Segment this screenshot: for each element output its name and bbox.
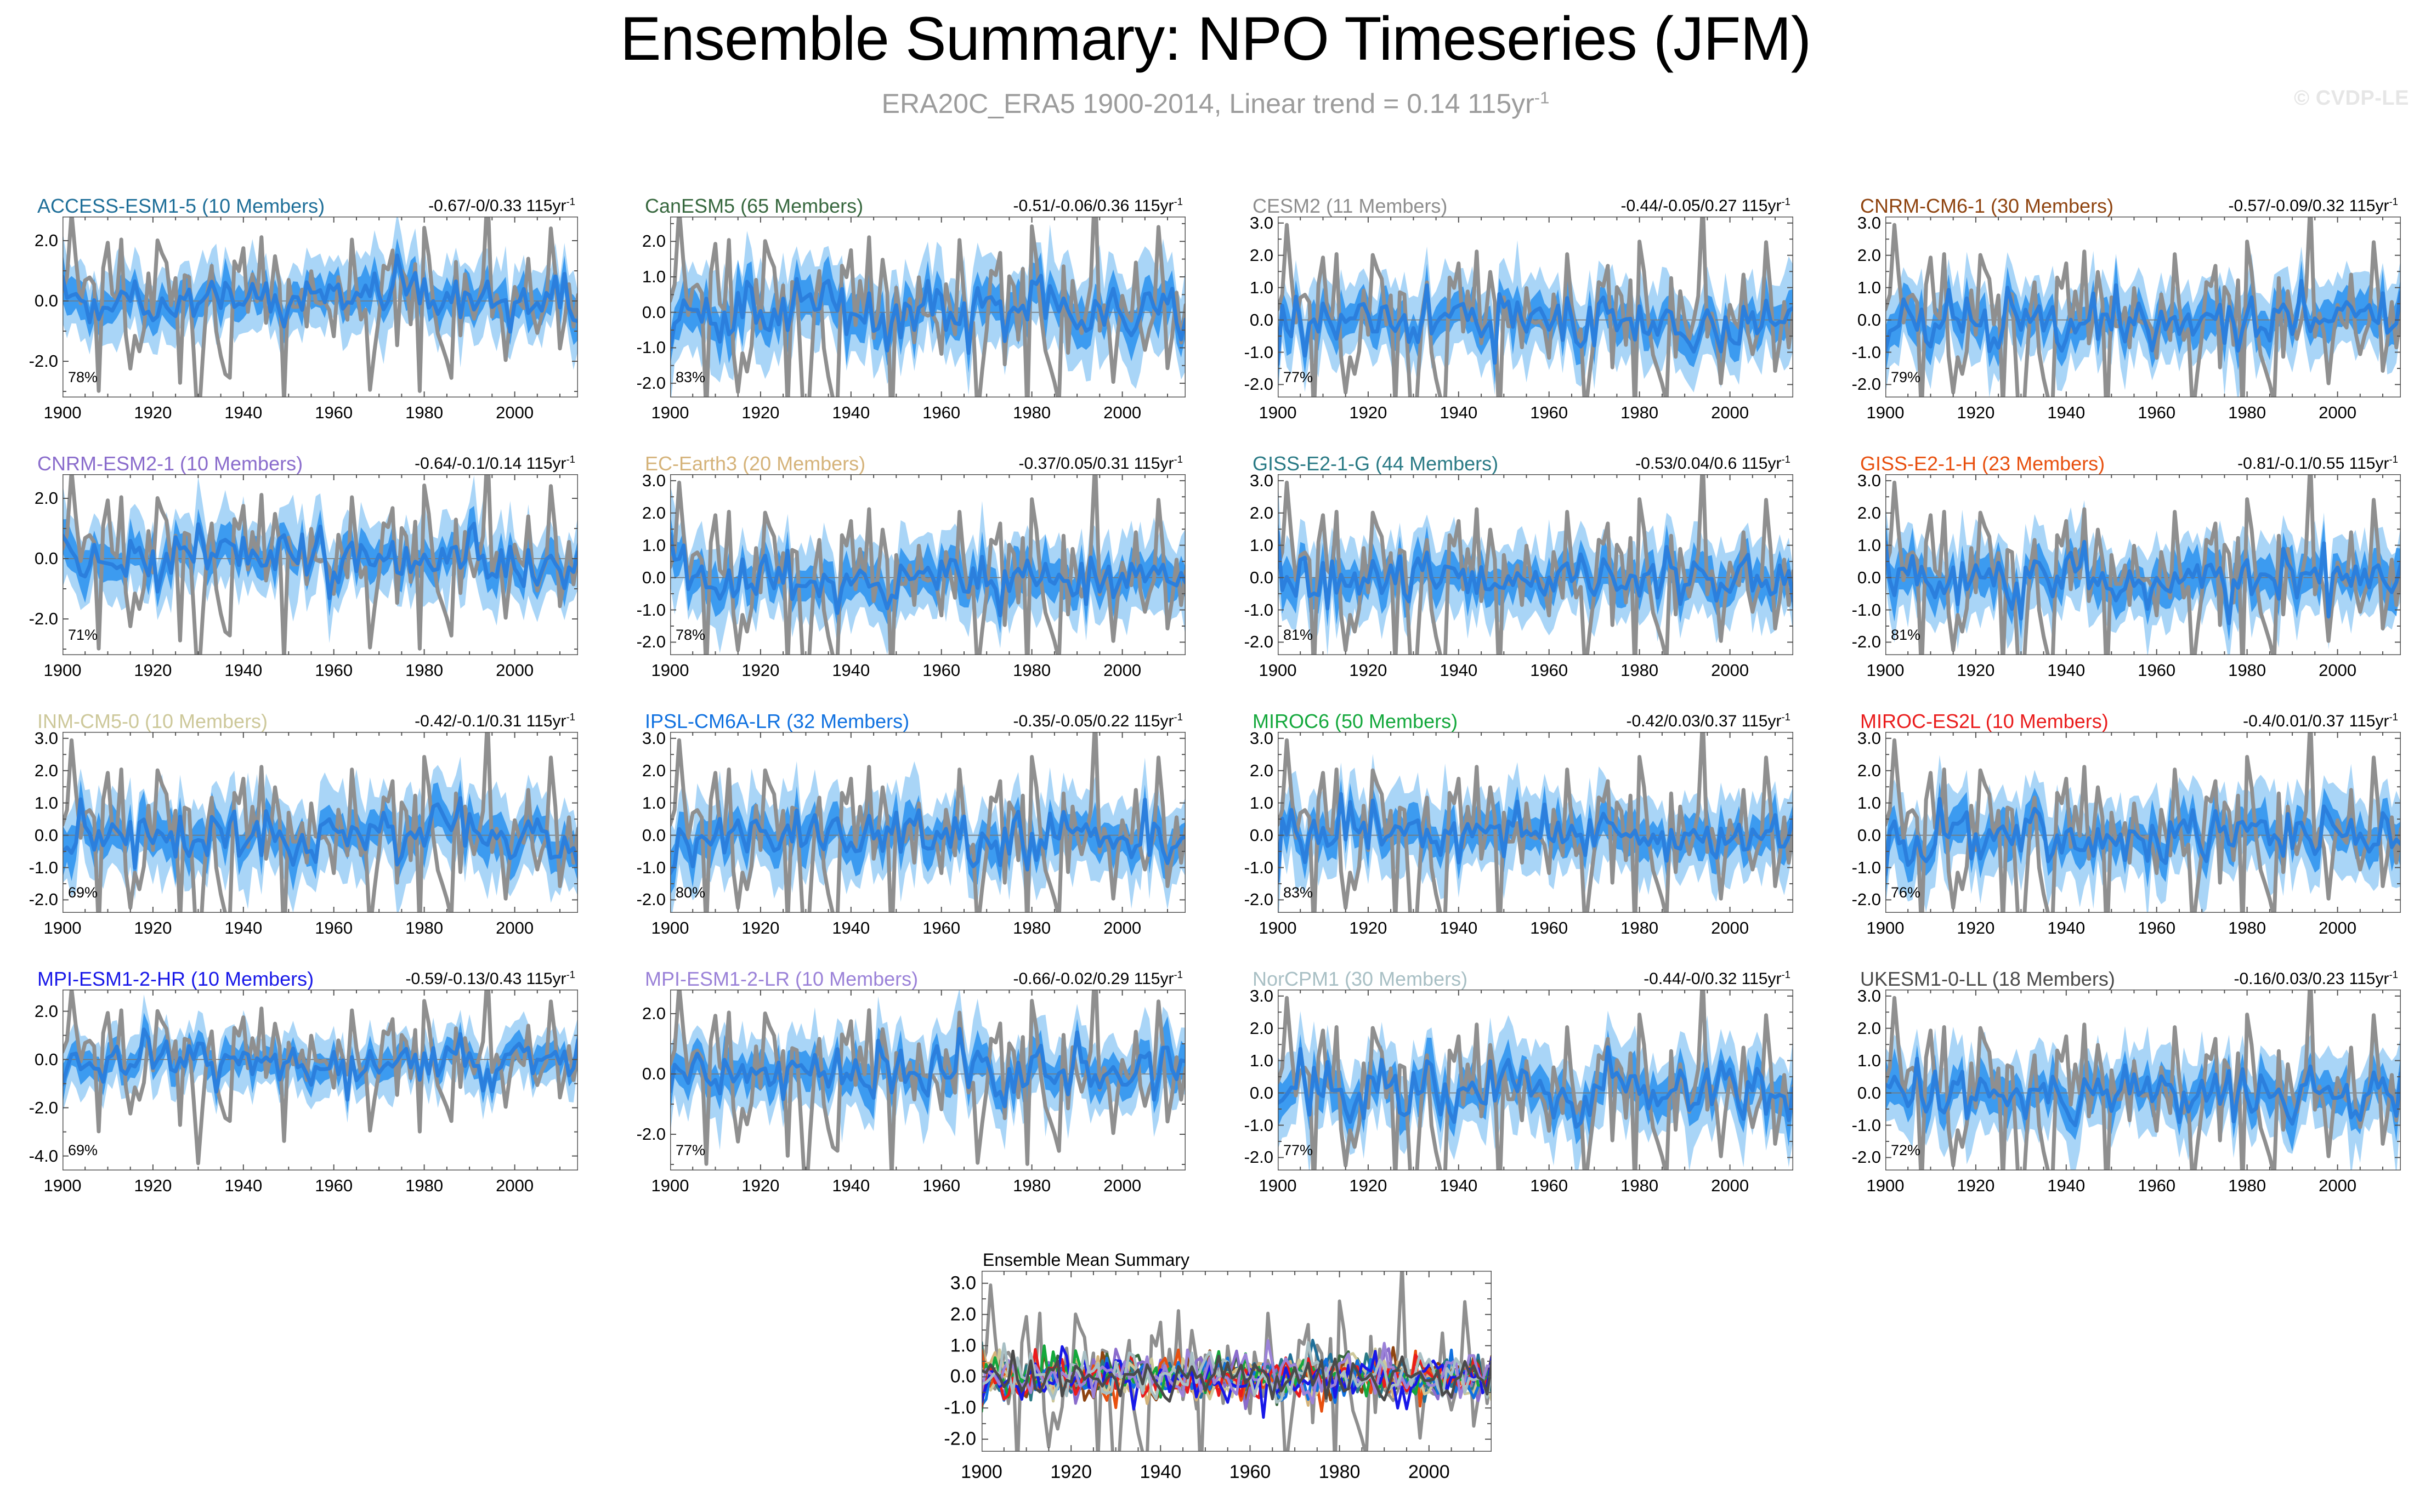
x-tick-label: 1980 (1620, 661, 1658, 680)
y-tick-label: 3.0 (1857, 729, 1881, 748)
y-tick-label: -1.0 (637, 600, 666, 620)
y-tick-label: 1.0 (642, 536, 666, 555)
summary-y-tick-label: -1.0 (944, 1397, 976, 1419)
y-tick-label: -2.0 (29, 351, 58, 371)
x-tick-label: 1960 (315, 1176, 353, 1196)
y-tick-label: -1.0 (637, 858, 666, 878)
y-tick-label: -2.0 (1852, 1147, 1881, 1167)
y-tick-label: -2.0 (29, 890, 58, 910)
x-tick-label: 2000 (496, 918, 534, 938)
x-tick-label: 1940 (832, 1176, 870, 1196)
variance-percent-label: 83% (1283, 884, 1313, 901)
y-tick-label: -2.0 (29, 1098, 58, 1118)
variance-percent-label: 71% (68, 627, 98, 644)
panel-model-title: ACCESS-ESM1-5 (10 Members) (37, 195, 325, 218)
summary-x-tick-label: 1900 (961, 1462, 1002, 1483)
summary-plot-area: 3.02.01.00.0-1.0-2.0 1900192019401960198… (921, 1271, 1552, 1507)
variance-percent-label: 76% (1891, 884, 1920, 901)
x-tick-label: 1960 (2138, 403, 2175, 423)
model-panel-mpi-esm1-2-lr: MPI-ESM1-2-LR (10 Members) -0.66/-0.02/0… (617, 968, 1191, 1225)
timeseries-svg (1885, 474, 2401, 658)
summary-x-tick-label: 1920 (1050, 1462, 1092, 1483)
x-tick-label: 2000 (1103, 403, 1141, 423)
y-tick-label: 0.0 (35, 291, 58, 311)
y-axis-labels: 2.00.0-2.0 (10, 474, 63, 655)
x-tick-label: 1960 (1530, 661, 1568, 680)
y-tick-label: -2.0 (637, 373, 666, 393)
x-tick-label: 1980 (405, 1176, 443, 1196)
x-tick-label: 2000 (2319, 1176, 2356, 1196)
x-tick-label: 1940 (2047, 661, 2085, 680)
x-tick-label: 1920 (1957, 661, 1994, 680)
timeseries-svg (63, 990, 578, 1173)
ensemble-mean-summary-panel: Ensemble Mean Summary 3.02.01.00.0-1.0-2… (921, 1250, 1552, 1508)
model-panel-giss-e2-1-g: GISS-E2-1-G (44 Members) -0.53/0.04/0.6 … (1225, 452, 1798, 710)
panel-plot-area: 3.02.01.00.0-1.0-2.0 72% 190019201940196… (1833, 990, 2406, 1225)
panel-model-title: MIROC6 (50 Members) (1253, 710, 1458, 733)
subtitle-exponent: -1 (1534, 88, 1550, 107)
panel-trend-label: -0.42/0.03/0.37 115yr-1 (1626, 711, 1790, 731)
y-tick-label: 2.0 (642, 1004, 666, 1024)
panel-plot-area: 3.02.01.00.0-1.0-2.0 81% 190019201940196… (1833, 474, 2406, 710)
variance-percent-label: 72% (1891, 1142, 1920, 1159)
timeseries-svg (63, 474, 578, 658)
y-tick-label: 2.0 (1857, 503, 1881, 523)
x-tick-label: 1980 (2228, 918, 2266, 938)
summary-y-tick-label: 3.0 (950, 1272, 976, 1294)
y-tick-label: 1.0 (1250, 278, 1273, 298)
panel-plot-area: 3.02.01.00.0-1.0-2.0 77% 190019201940196… (1225, 990, 1798, 1225)
y-tick-label: 0.0 (35, 826, 58, 845)
x-tick-label: 1960 (315, 403, 353, 423)
x-tick-label: 1920 (134, 918, 172, 938)
y-tick-label: -1.0 (1244, 343, 1273, 362)
x-axis-labels: 190019201940196019802000 (1885, 661, 2401, 686)
x-tick-label: 1980 (1620, 403, 1658, 423)
x-tick-label: 1900 (1867, 918, 1905, 938)
x-tick-label: 2000 (496, 403, 534, 423)
x-tick-label: 1920 (741, 918, 779, 938)
variance-percent-label: 77% (1283, 1142, 1313, 1159)
x-axis-labels: 190019201940196019802000 (63, 1176, 578, 1201)
panel-plot-area: 3.02.01.00.0-1.0-2.0 77% 190019201940196… (1225, 217, 1798, 452)
summary-timeseries-svg (982, 1271, 1492, 1454)
panel-header: ACCESS-ESM1-5 (10 Members) -0.67/-0/0.33… (10, 195, 583, 218)
y-tick-label: -1.0 (1852, 858, 1881, 878)
y-tick-label: 3.0 (642, 729, 666, 748)
variance-percent-label: 79% (1891, 369, 1920, 386)
x-tick-label: 1900 (651, 918, 689, 938)
y-axis-labels: 3.02.01.00.0-1.0-2.0 (617, 732, 670, 913)
panel-plot-area: 3.02.01.00.0-1.0-2.0 80% 190019201940196… (617, 732, 1191, 968)
y-tick-label: -2.0 (1852, 374, 1881, 394)
x-axis-labels: 190019201940196019802000 (1278, 661, 1793, 686)
summary-y-axis-labels: 3.02.01.00.0-1.0-2.0 (921, 1271, 982, 1452)
y-tick-label: 0.0 (1857, 1083, 1881, 1103)
y-tick-label: -1.0 (1244, 600, 1273, 620)
summary-x-axis-labels: 190019201940196019802000 (982, 1462, 1492, 1489)
timeseries-svg (670, 732, 1186, 916)
x-tick-label: 1940 (224, 403, 262, 423)
panel-header: MPI-ESM1-2-LR (10 Members) -0.66/-0.02/0… (617, 968, 1191, 991)
y-tick-label: 0.0 (642, 1064, 666, 1084)
x-tick-label: 1920 (741, 403, 779, 423)
x-tick-label: 2000 (496, 661, 534, 680)
timeseries-svg (670, 990, 1186, 1173)
panel-trend-label: -0.42/-0.1/0.31 115yr-1 (415, 711, 575, 731)
y-tick-label: 2.0 (1857, 761, 1881, 781)
y-tick-label: -1.0 (1852, 1116, 1881, 1135)
x-tick-label: 1920 (741, 661, 779, 680)
panel-plot-area: 3.02.01.00.0-1.0-2.0 78% 190019201940196… (617, 474, 1191, 710)
y-tick-label: 2.0 (1250, 761, 1273, 781)
model-panel-cnrm-cm6-1: CNRM-CM6-1 (30 Members) -0.57/-0.09/0.32… (1833, 195, 2406, 452)
y-tick-label: 2.0 (642, 761, 666, 781)
timeseries-svg (1278, 990, 1793, 1173)
panel-model-title: MPI-ESM1-2-LR (10 Members) (645, 968, 918, 991)
y-tick-label: 2.0 (35, 1002, 58, 1021)
y-tick-label: 0.0 (642, 568, 666, 588)
x-tick-label: 1960 (922, 918, 960, 938)
y-tick-label: 2.0 (642, 231, 666, 251)
x-tick-label: 1920 (1349, 918, 1387, 938)
model-panel-cnrm-esm2-1: CNRM-ESM2-1 (10 Members) -0.64/-0.1/0.14… (10, 452, 583, 710)
x-tick-label: 1920 (1957, 1176, 1994, 1196)
y-tick-label: 3.0 (35, 729, 58, 748)
panel-model-title: GISS-E2-1-G (44 Members) (1253, 452, 1498, 475)
y-tick-label: -1.0 (1852, 343, 1881, 362)
variance-percent-label: 81% (1891, 627, 1920, 644)
variance-percent-label: 81% (1283, 627, 1313, 644)
y-tick-label: 0.0 (1857, 310, 1881, 330)
x-tick-label: 1940 (832, 918, 870, 938)
panel-plot-area: 2.00.0-2.0 77% 190019201940196019802000 (617, 990, 1191, 1225)
x-tick-label: 2000 (2319, 918, 2356, 938)
panel-model-title: MIROC-ES2L (10 Members) (1860, 710, 2109, 733)
x-tick-label: 1940 (1440, 918, 1477, 938)
y-tick-label: -1.0 (29, 858, 58, 878)
panel-header: UKESM1-0-LL (18 Members) -0.16/0.03/0.23… (1833, 968, 2406, 991)
y-tick-label: 3.0 (1857, 986, 1881, 1006)
panel-plot-area: 3.02.01.00.0-1.0-2.0 79% 190019201940196… (1833, 217, 2406, 452)
y-tick-label: 0.0 (1250, 826, 1273, 845)
y-tick-label: 1.0 (642, 793, 666, 813)
x-tick-label: 1920 (741, 1176, 779, 1196)
timeseries-svg (1885, 990, 2401, 1173)
x-axis-labels: 190019201940196019802000 (1278, 403, 1793, 428)
y-axis-labels: 3.02.01.00.0-1.0-2.0 (1225, 474, 1278, 655)
x-tick-label: 1980 (1013, 918, 1051, 938)
x-axis-labels: 190019201940196019802000 (63, 918, 578, 943)
y-tick-label: 0.0 (35, 1050, 58, 1070)
x-tick-label: 1940 (2047, 403, 2085, 423)
x-axis-labels: 190019201940196019802000 (1885, 1176, 2401, 1201)
model-panel-canesm5: CanESM5 (65 Members) -0.51/-0.06/0.36 11… (617, 195, 1191, 452)
x-tick-label: 1940 (832, 661, 870, 680)
summary-y-tick-label: 2.0 (950, 1304, 976, 1325)
x-axis-labels: 190019201940196019802000 (63, 403, 578, 428)
panel-plot-area: 2.00.0-2.0 78% 190019201940196019802000 (10, 217, 583, 452)
y-axis-labels: 3.02.01.00.0-1.0-2.0 (1225, 990, 1278, 1170)
timeseries-svg (1278, 732, 1793, 916)
x-tick-label: 2000 (2319, 661, 2356, 680)
x-tick-label: 1940 (1440, 403, 1477, 423)
panel-model-title: CNRM-ESM2-1 (10 Members) (37, 452, 303, 475)
x-axis-labels: 190019201940196019802000 (1885, 918, 2401, 943)
panel-trend-label: -0.66/-0.02/0.29 115yr-1 (1013, 969, 1183, 988)
summary-title: Ensemble Mean Summary (983, 1250, 1189, 1270)
x-tick-label: 1940 (1440, 1176, 1477, 1196)
x-tick-label: 1920 (1349, 1176, 1387, 1196)
panel-header: CNRM-CM6-1 (30 Members) -0.57/-0.09/0.32… (1833, 195, 2406, 218)
panel-header: NorCPM1 (30 Members) -0.44/-0/0.32 115yr… (1225, 968, 1798, 991)
x-axis-labels: 190019201940196019802000 (670, 403, 1186, 428)
x-tick-label: 1940 (224, 918, 262, 938)
x-tick-label: 1960 (315, 661, 353, 680)
x-tick-label: 1900 (1259, 1176, 1297, 1196)
panel-header: IPSL-CM6A-LR (32 Members) -0.35/-0.05/0.… (617, 710, 1191, 733)
x-tick-label: 1980 (405, 403, 443, 423)
x-tick-label: 1960 (315, 918, 353, 938)
panel-trend-label: -0.81/-0.1/0.55 115yr-1 (2237, 453, 2398, 473)
cvdp-le-watermark: © CVDP-LE (2294, 87, 2409, 110)
x-tick-label: 1920 (134, 403, 172, 423)
x-tick-label: 2000 (1711, 661, 1749, 680)
x-tick-label: 1960 (922, 1176, 960, 1196)
x-tick-label: 1960 (1530, 918, 1568, 938)
y-tick-label: -2.0 (1244, 1147, 1273, 1167)
y-tick-label: 0.0 (1250, 1083, 1273, 1103)
x-tick-label: 1960 (922, 403, 960, 423)
y-axis-labels: 3.02.01.00.0-1.0-2.0 (617, 474, 670, 655)
y-tick-label: -1.0 (1244, 1116, 1273, 1135)
x-axis-labels: 190019201940196019802000 (670, 661, 1186, 686)
panel-plot-area: 2.01.00.0-1.0-2.0 83% 190019201940196019… (617, 217, 1191, 452)
x-tick-label: 2000 (1103, 918, 1141, 938)
y-axis-labels: 2.00.0-2.0 (617, 990, 670, 1170)
y-tick-label: -2.0 (29, 609, 58, 629)
y-tick-label: -2.0 (1244, 890, 1273, 910)
timeseries-svg (1885, 732, 2401, 916)
x-axis-labels: 190019201940196019802000 (1885, 403, 2401, 428)
panel-trend-label: -0.51/-0.06/0.36 115yr-1 (1013, 196, 1183, 215)
y-tick-label: -1.0 (1244, 858, 1273, 878)
x-tick-label: 2000 (1711, 1176, 1749, 1196)
x-tick-label: 1980 (1013, 1176, 1051, 1196)
x-axis-labels: 190019201940196019802000 (63, 661, 578, 686)
x-tick-label: 1960 (1530, 1176, 1568, 1196)
panel-trend-label: -0.59/-0.13/0.43 115yr-1 (405, 969, 575, 988)
x-tick-label: 1900 (44, 918, 82, 938)
model-panel-access-esm1-5: ACCESS-ESM1-5 (10 Members) -0.67/-0/0.33… (10, 195, 583, 452)
panel-plot-area: 2.00.0-2.0 71% 190019201940196019802000 (10, 474, 583, 710)
model-panel-miroc6: MIROC6 (50 Members) -0.42/0.03/0.37 115y… (1225, 710, 1798, 968)
panel-header: MIROC-ES2L (10 Members) -0.4/0.01/0.37 1… (1833, 710, 2406, 733)
panel-plot-area: 3.02.01.00.0-1.0-2.0 69% 190019201940196… (10, 732, 583, 968)
panel-trend-label: -0.53/0.04/0.6 115yr-1 (1635, 453, 1790, 473)
y-tick-label: 3.0 (1857, 471, 1881, 491)
x-tick-label: 1940 (832, 403, 870, 423)
y-tick-label: -2.0 (1244, 632, 1273, 652)
x-tick-label: 1980 (1620, 918, 1658, 938)
y-tick-label: 2.0 (642, 503, 666, 523)
x-tick-label: 2000 (2319, 403, 2356, 423)
panel-model-title: CESM2 (11 Members) (1253, 195, 1447, 218)
panel-plot-area: 3.02.01.00.0-1.0-2.0 76% 190019201940196… (1833, 732, 2406, 968)
subtitle-text: ERA20C_ERA5 1900-2014, Linear trend = 0.… (882, 88, 1534, 119)
timeseries-svg (1885, 217, 2401, 400)
timeseries-svg (1278, 217, 1793, 400)
summary-x-tick-label: 1940 (1140, 1462, 1181, 1483)
x-tick-label: 1900 (1867, 403, 1905, 423)
model-panel-norcpm1: NorCPM1 (30 Members) -0.44/-0/0.32 115yr… (1225, 968, 1798, 1225)
panel-trend-label: -0.44/-0.05/0.27 115yr-1 (1620, 196, 1790, 215)
y-tick-label: 1.0 (1857, 536, 1881, 555)
panel-model-title: NorCPM1 (30 Members) (1253, 968, 1467, 991)
y-tick-label: 1.0 (1250, 536, 1273, 555)
panel-model-title: CanESM5 (65 Members) (645, 195, 863, 218)
x-tick-label: 1900 (1867, 661, 1905, 680)
model-panel-ukesm1-0-ll: UKESM1-0-LL (18 Members) -0.16/0.03/0.23… (1833, 968, 2406, 1225)
timeseries-svg (1278, 474, 1793, 658)
model-panel-ipsl-cm6a-lr: IPSL-CM6A-LR (32 Members) -0.35/-0.05/0.… (617, 710, 1191, 968)
y-tick-label: -2.0 (1852, 890, 1881, 910)
x-tick-label: 1900 (651, 661, 689, 680)
x-axis-labels: 190019201940196019802000 (1278, 918, 1793, 943)
variance-percent-label: 80% (676, 884, 705, 901)
panel-trend-label: -0.4/0.01/0.37 115yr-1 (2243, 711, 2398, 731)
y-tick-label: 2.0 (1250, 1019, 1273, 1038)
y-tick-label: 2.0 (1250, 503, 1273, 523)
panel-plot-area: 2.00.0-2.0-4.0 69% 190019201940196019802… (10, 990, 583, 1225)
x-tick-label: 1920 (134, 661, 172, 680)
panel-model-title: MPI-ESM1-2-HR (10 Members) (37, 968, 314, 991)
y-axis-labels: 2.01.00.0-1.0-2.0 (617, 217, 670, 397)
panel-trend-label: -0.67/-0/0.33 115yr-1 (428, 196, 575, 215)
y-tick-label: 1.0 (1857, 1051, 1881, 1071)
x-tick-label: 1920 (1349, 661, 1387, 680)
timeseries-svg (63, 732, 578, 916)
x-tick-label: 1960 (2138, 918, 2175, 938)
y-tick-label: -1.0 (637, 338, 666, 357)
x-tick-label: 1900 (651, 403, 689, 423)
x-tick-label: 1900 (1259, 403, 1297, 423)
x-tick-label: 1920 (1957, 918, 1994, 938)
x-tick-label: 1900 (44, 403, 82, 423)
y-axis-labels: 3.02.01.00.0-1.0-2.0 (1225, 217, 1278, 397)
panel-trend-label: -0.64/-0.1/0.14 115yr-1 (415, 453, 575, 473)
x-tick-label: 2000 (1711, 918, 1749, 938)
x-tick-label: 1980 (2228, 1176, 2266, 1196)
y-axis-labels: 3.02.01.00.0-1.0-2.0 (10, 732, 63, 913)
panel-model-title: GISS-E2-1-H (23 Members) (1860, 452, 2105, 475)
y-tick-label: 1.0 (1857, 278, 1881, 298)
y-tick-label: -2.0 (637, 890, 666, 910)
panel-model-title: EC-Earth3 (20 Members) (645, 452, 865, 475)
y-tick-label: 3.0 (1250, 986, 1273, 1006)
variance-percent-label: 83% (676, 369, 705, 386)
x-axis-labels: 190019201940196019802000 (670, 1176, 1186, 1201)
y-axis-labels: 3.02.01.00.0-1.0-2.0 (1833, 474, 1885, 655)
x-tick-label: 1940 (1440, 661, 1477, 680)
panel-trend-label: -0.35/-0.05/0.22 115yr-1 (1013, 711, 1183, 731)
x-tick-label: 1960 (2138, 1176, 2175, 1196)
y-axis-labels: 3.02.01.00.0-1.0-2.0 (1833, 217, 1885, 397)
x-tick-label: 1980 (1013, 661, 1051, 680)
variance-percent-label: 69% (68, 1142, 98, 1159)
y-tick-label: 0.0 (1250, 568, 1273, 588)
y-tick-label: 1.0 (1250, 793, 1273, 813)
model-panel-miroc-es2l: MIROC-ES2L (10 Members) -0.4/0.01/0.37 1… (1833, 710, 2406, 968)
page-subtitle: ERA20C_ERA5 1900-2014, Linear trend = 0.… (0, 88, 2431, 120)
summary-x-tick-label: 1960 (1229, 1462, 1271, 1483)
panel-header: MPI-ESM1-2-HR (10 Members) -0.59/-0.13/0… (10, 968, 583, 991)
panel-model-title: INM-CM5-0 (10 Members) (37, 710, 268, 733)
model-panel-giss-e2-1-h: GISS-E2-1-H (23 Members) -0.81/-0.1/0.55… (1833, 452, 2406, 710)
page-title: Ensemble Summary: NPO Timeseries (JFM) (0, 3, 2431, 74)
x-tick-label: 1900 (651, 1176, 689, 1196)
x-tick-label: 1940 (224, 661, 262, 680)
y-tick-label: -2.0 (637, 1124, 666, 1144)
x-tick-label: 1960 (2138, 661, 2175, 680)
panel-model-title: CNRM-CM6-1 (30 Members) (1860, 195, 2113, 218)
y-tick-label: 0.0 (35, 549, 58, 569)
y-tick-label: 0.0 (1857, 826, 1881, 845)
y-tick-label: -2.0 (1852, 632, 1881, 652)
variance-percent-label: 78% (68, 369, 98, 386)
timeseries-svg (670, 217, 1186, 400)
x-tick-label: 1900 (1867, 1176, 1905, 1196)
model-panel-mpi-esm1-2-hr: MPI-ESM1-2-HR (10 Members) -0.59/-0.13/0… (10, 968, 583, 1225)
y-tick-label: -4.0 (29, 1146, 58, 1166)
y-tick-label: 1.0 (642, 267, 666, 287)
x-tick-label: 1900 (44, 1176, 82, 1196)
x-tick-label: 1960 (922, 661, 960, 680)
x-axis-labels: 190019201940196019802000 (670, 918, 1186, 943)
y-tick-label: 2.0 (1857, 246, 1881, 265)
y-tick-label: 1.0 (35, 793, 58, 813)
variance-percent-label: 77% (1283, 369, 1313, 386)
panel-model-title: UKESM1-0-LL (18 Members) (1860, 968, 2115, 991)
x-tick-label: 1980 (1620, 1176, 1658, 1196)
y-axis-labels: 3.02.01.00.0-1.0-2.0 (1225, 732, 1278, 913)
x-tick-label: 1940 (224, 1176, 262, 1196)
x-tick-label: 1940 (2047, 1176, 2085, 1196)
y-tick-label: 0.0 (642, 303, 666, 322)
y-tick-label: 3.0 (1250, 471, 1273, 491)
panel-header: EC-Earth3 (20 Members) -0.37/0.05/0.31 1… (617, 452, 1191, 475)
panel-plot-area: 3.02.01.00.0-1.0-2.0 81% 190019201940196… (1225, 474, 1798, 710)
x-tick-label: 2000 (1103, 1176, 1141, 1196)
x-tick-label: 1900 (1259, 918, 1297, 938)
panel-trend-label: -0.57/-0.09/0.32 115yr-1 (2228, 196, 2398, 215)
x-tick-label: 1980 (405, 661, 443, 680)
x-tick-label: 1980 (405, 918, 443, 938)
y-tick-label: 0.0 (642, 826, 666, 845)
x-tick-label: 2000 (496, 1176, 534, 1196)
y-tick-label: 2.0 (35, 231, 58, 251)
x-tick-label: 1960 (1530, 403, 1568, 423)
x-tick-label: 1940 (2047, 918, 2085, 938)
variance-percent-label: 69% (68, 884, 98, 901)
y-axis-labels: 2.00.0-2.0 (10, 217, 63, 397)
y-tick-label: 0.0 (1250, 310, 1273, 330)
y-tick-label: -2.0 (637, 632, 666, 652)
y-tick-label: 0.0 (1857, 568, 1881, 588)
y-tick-label: 2.0 (1250, 246, 1273, 265)
x-tick-label: 1920 (1349, 403, 1387, 423)
variance-percent-label: 78% (676, 627, 705, 644)
